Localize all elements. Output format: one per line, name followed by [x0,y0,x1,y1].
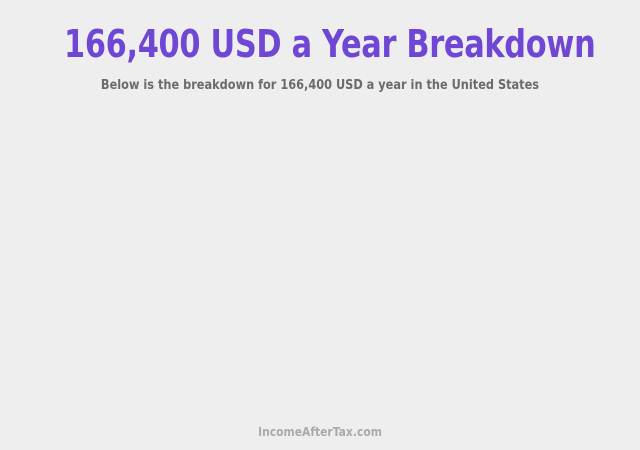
page-header: 166,400 USD a Year Breakdown Below is th… [0,0,640,94]
page-subtitle: Below is the breakdown for 166,400 USD a… [51,66,589,94]
main-content-area [0,94,640,424]
page-footer: IncomeAfterTax.com [0,424,640,450]
site-credit: IncomeAfterTax.com [45,424,595,439]
page-title: 166,400 USD a Year Breakdown [64,22,576,66]
page-root: 166,400 USD a Year Breakdown Below is th… [0,0,640,450]
breakdown-chart-region [0,94,640,424]
